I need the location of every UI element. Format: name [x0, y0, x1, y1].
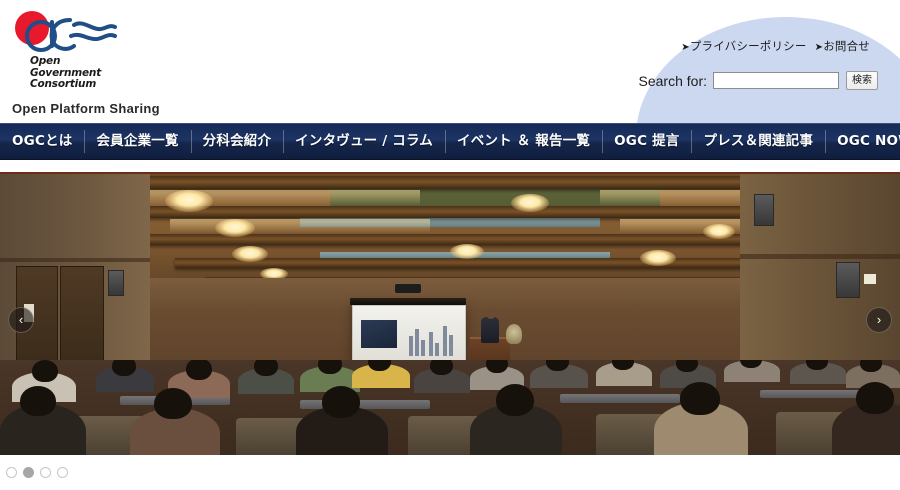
nav-item-ogc-now[interactable]: OGC NOW — [825, 124, 900, 159]
search-input[interactable] — [713, 72, 839, 89]
logo-line-3: Consortium — [30, 79, 101, 91]
nav-item-interview[interactable]: インタヴュー / コラム — [283, 124, 445, 159]
screen-housing — [350, 298, 466, 305]
speaker-head — [486, 308, 496, 319]
hero-carousel: ‹ › — [0, 172, 900, 457]
site-logo[interactable]: Open Government Consortium — [8, 8, 188, 94]
nav-item-members[interactable]: 会員企業一覧 — [84, 124, 190, 159]
carousel-dot-3[interactable] — [40, 467, 51, 478]
wall-left — [0, 174, 150, 388]
arrow-right-icon: ➤ — [681, 42, 690, 53]
audience-region — [0, 360, 900, 457]
carousel-next-button[interactable]: › — [866, 307, 892, 333]
speaker-person — [481, 317, 499, 343]
contact-link[interactable]: ➤お問合せ — [815, 39, 870, 53]
flower-arrangement — [506, 324, 522, 344]
wall-right — [740, 174, 900, 388]
logo-line-1: Open — [30, 56, 101, 68]
privacy-policy-label: プライバシーポリシー — [690, 39, 807, 53]
logo-wordmark: Open Government Consortium — [30, 56, 101, 91]
nav-item-proposals[interactable]: OGC 提言 — [602, 124, 691, 159]
carousel-dot-4[interactable] — [57, 467, 68, 478]
arrow-right-icon-2: ➤ — [815, 42, 824, 53]
search-label: Search for: — [639, 73, 707, 89]
utility-links: ➤プライバシーポリシー➤お問合せ — [681, 38, 870, 54]
carousel-slide-image — [0, 174, 900, 457]
carousel-pagination — [0, 455, 900, 490]
projector-icon — [395, 284, 421, 293]
contact-label: お問合せ — [823, 39, 870, 53]
carousel-prev-button[interactable]: ‹ — [8, 307, 34, 333]
nav-item-press[interactable]: プレス＆関連記事 — [691, 124, 825, 159]
search-form: Search for: 検索 — [639, 71, 878, 90]
site-tagline: Open Platform Sharing — [12, 101, 160, 116]
search-submit-button[interactable]: 検索 — [846, 71, 878, 90]
carousel-dot-1[interactable] — [6, 467, 17, 478]
carousel-dot-2[interactable] — [23, 467, 34, 478]
main-navigation: OGCとは 会員企業一覧 分科会紹介 インタヴュー / コラム イベント ＆ 報… — [0, 123, 900, 160]
page-root: Open Government Consortium Open Platform… — [0, 0, 900, 490]
privacy-policy-link[interactable]: ➤プライバシーポリシー — [681, 39, 806, 53]
site-header: Open Government Consortium Open Platform… — [0, 0, 900, 123]
nav-item-about[interactable]: OGCとは — [0, 124, 84, 159]
slide-photo — [361, 320, 397, 348]
nav-item-subgroups[interactable]: 分科会紹介 — [191, 124, 284, 159]
cloud-decoration-icon — [636, 17, 900, 123]
nav-item-events[interactable]: イベント ＆ 報告一覧 — [445, 124, 602, 159]
